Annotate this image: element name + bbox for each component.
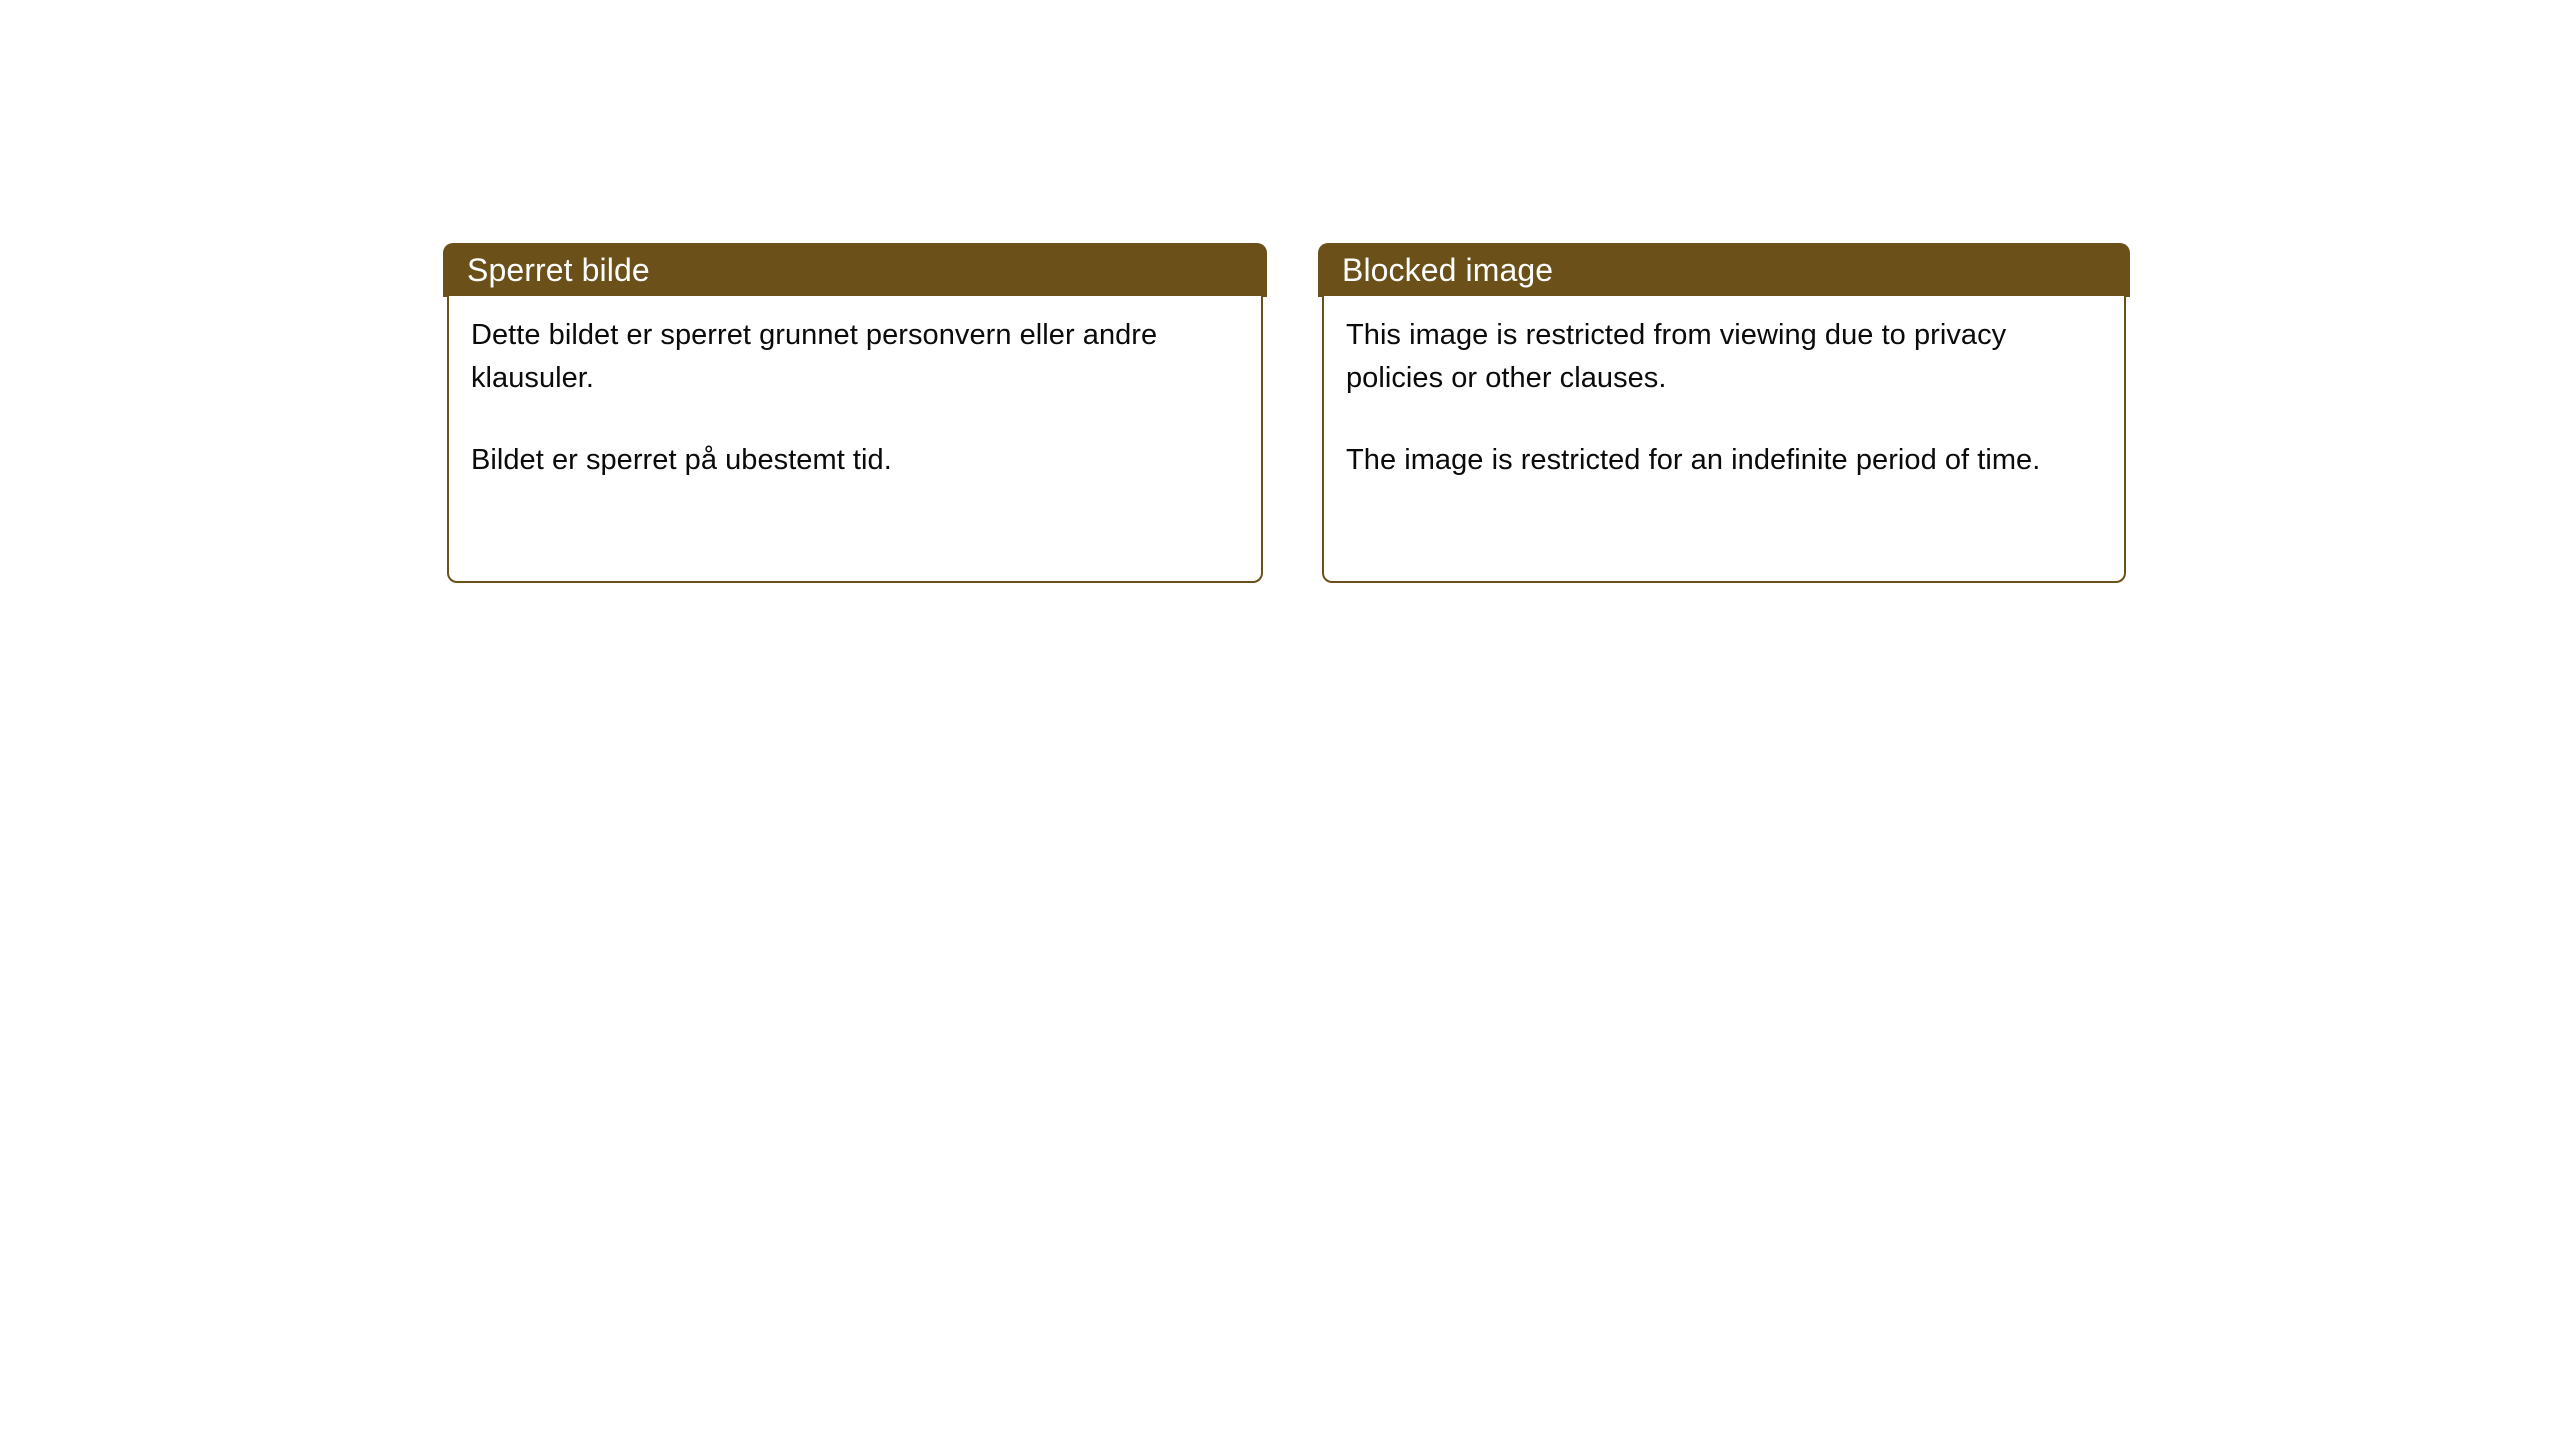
card-title-norwegian: Sperret bilde <box>443 254 650 286</box>
card-header-norwegian: Sperret bilde <box>443 243 1267 297</box>
card-title-english: Blocked image <box>1318 254 1553 286</box>
blocked-image-notice-card-norwegian: Sperret bilde Dette bildet er sperret gr… <box>443 243 1267 583</box>
card-paragraph-primary-english: This image is restricted from viewing du… <box>1346 314 2104 400</box>
card-paragraph-secondary-norwegian: Bildet er sperret på ubestemt tid. <box>471 439 1241 482</box>
card-body-norwegian: Dette bildet er sperret grunnet personve… <box>447 296 1263 583</box>
page-canvas: Sperret bilde Dette bildet er sperret gr… <box>0 0 2560 1440</box>
card-paragraph-primary-norwegian: Dette bildet er sperret grunnet personve… <box>471 314 1241 400</box>
card-header-english: Blocked image <box>1318 243 2130 297</box>
card-paragraph-secondary-english: The image is restricted for an indefinit… <box>1346 439 2104 482</box>
blocked-image-notice-card-english: Blocked image This image is restricted f… <box>1318 243 2130 583</box>
card-body-english: This image is restricted from viewing du… <box>1322 296 2126 583</box>
